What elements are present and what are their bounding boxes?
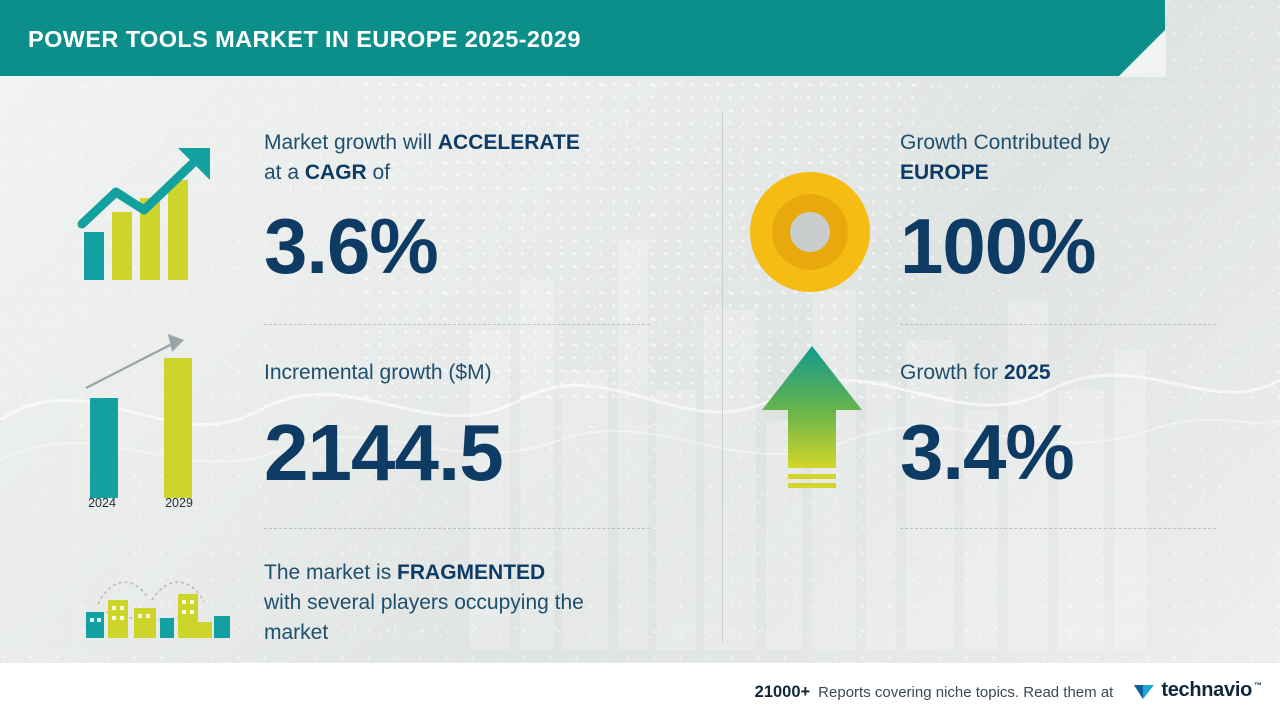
footer-tagline: Reports covering niche topics. Read them… [818, 684, 1113, 701]
fragmentation-line2: with several players occupying the [264, 588, 684, 618]
bar-label-2029: 2029 [157, 496, 201, 510]
year-growth-label: Growth for 2025 [900, 358, 1051, 388]
two-bars-arrow-icon [72, 330, 232, 498]
footer-content: 21000+ Reports covering niche topics. Re… [755, 663, 1262, 720]
cagr-line2-prefix: at a [264, 161, 305, 184]
row-divider-right-1 [900, 324, 1216, 325]
cagr-value: 3.6% [264, 198, 438, 294]
contribution-text-block: Growth Contributed by EUROPE [900, 128, 1230, 188]
year-growth-year: 2025 [1004, 361, 1051, 384]
footer-report-count: 21000+ [755, 683, 811, 702]
row-divider-left-1 [264, 324, 650, 325]
contribution-region: EUROPE [900, 161, 989, 184]
technavio-trademark: ™ [1254, 681, 1262, 690]
row-divider-right-2 [900, 528, 1216, 529]
cagr-line2-strong: CAGR [305, 161, 367, 184]
fragmentation-line1: The market is FRAGMENTED [264, 558, 684, 588]
fragmentation-line3: market [264, 618, 684, 648]
bar-label-2024: 2024 [80, 496, 124, 510]
technavio-logo-icon [1131, 679, 1157, 705]
cagr-line2-suffix: of [367, 161, 390, 184]
infographic-page: POWER TOOLS MARKET IN EUROPE 2025-2029 M… [0, 0, 1280, 720]
year-growth-label-prefix: Growth for [900, 361, 1004, 384]
fragmentation-line1-prefix: The market is [264, 561, 397, 584]
city-network-icon [72, 560, 240, 646]
column-divider [722, 112, 723, 642]
contribution-value: 100% [900, 198, 1096, 294]
donut-chart-icon [748, 170, 872, 294]
page-title: POWER TOOLS MARKET IN EUROPE 2025-2029 [28, 26, 581, 53]
cagr-line1-strong: ACCELERATE [438, 131, 580, 154]
up-arrow-icon [756, 340, 868, 508]
cagr-line1-prefix: Market growth will [264, 131, 438, 154]
fragmentation-line1-strong: FRAGMENTED [397, 561, 545, 584]
fragmentation-text-block: The market is FRAGMENTED with several pl… [264, 558, 684, 648]
technavio-brand[interactable]: technavio ™ [1131, 679, 1262, 705]
header-corner-fold [1118, 29, 1166, 77]
incremental-growth-label: Incremental growth ($M) [264, 358, 492, 388]
contribution-line1: Growth Contributed by [900, 128, 1230, 158]
cagr-statement-line2: at a CAGR of [264, 158, 684, 188]
year-growth-value: 3.4% [900, 404, 1074, 500]
cagr-statement-line1: Market growth will ACCELERATE [264, 128, 684, 158]
cagr-text-block: Market growth will ACCELERATE at a CAGR … [264, 128, 684, 188]
footer-bar: 21000+ Reports covering niche topics. Re… [0, 662, 1280, 720]
row-divider-left-2 [264, 528, 650, 529]
contribution-line2: EUROPE [900, 158, 1230, 188]
header-bar: POWER TOOLS MARKET IN EUROPE 2025-2029 [0, 0, 1165, 76]
growth-chart-arrow-icon [74, 140, 224, 290]
incremental-growth-value: 2144.5 [264, 404, 503, 502]
technavio-wordmark: technavio [1161, 679, 1252, 702]
